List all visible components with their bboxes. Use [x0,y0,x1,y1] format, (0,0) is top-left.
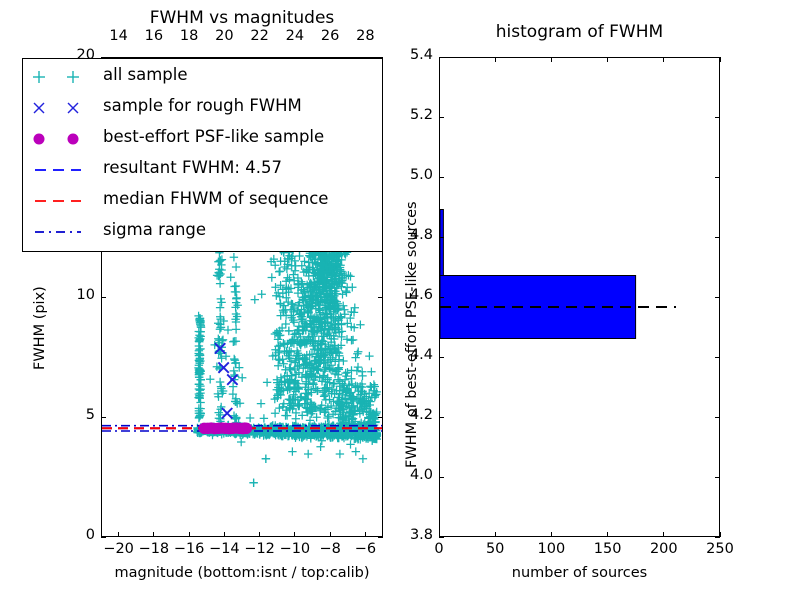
axis-tick [439,177,444,178]
tick-label: 5.2 [389,107,433,123]
axis-tick [439,537,444,538]
figure-canvas: FWHM vs magnitudes 1416182022242628 −20−… [0,0,800,600]
left-panel-title: FWHM vs magnitudes [101,8,383,28]
axis-tick [439,477,444,478]
legend-item-label: all sample [103,65,188,84]
right-xlabel: number of sources [429,565,730,581]
legend-item: resultant FWHM: 4.57 [23,156,381,184]
axis-tick [715,297,720,298]
tick-label: 18 [179,28,199,44]
axis-tick [439,57,440,62]
tick-label: −14 [208,541,240,557]
legend-box: all samplesample for rough FWHMbest-effo… [22,58,383,252]
axis-tick [101,297,106,298]
tick-label: 14 [109,28,129,44]
legend-item: sigma range [23,218,381,246]
tick-label: 0 [53,527,95,543]
legend-marker-cross-icon [23,94,101,122]
axis-tick [153,532,154,537]
legend-item-label: resultant FWHM: 4.57 [103,158,282,177]
axis-tick [378,297,383,298]
legend-marker-dashed-icon [23,156,101,184]
axis-tick [715,357,720,358]
tick-label: 150 [588,541,628,557]
legend-marker-dashed-icon [23,187,101,215]
axis-tick [607,57,608,62]
axis-tick [101,417,106,418]
tick-label: 20 [214,28,234,44]
right-plot-axes [439,57,720,537]
axis-tick [378,537,383,538]
axis-tick [495,532,496,537]
legend-item-label: best-effort PSF-like sample [103,127,324,146]
tick-label: 22 [250,28,270,44]
legend-item: all sample [23,63,381,91]
axis-tick [607,532,608,537]
tick-label: 10 [53,287,95,303]
legend-item-label: sigma range [103,220,206,239]
axis-tick [439,297,444,298]
axis-tick [715,117,720,118]
tick-label: 26 [320,28,340,44]
axis-tick [224,532,225,537]
tick-label: 200 [644,541,684,557]
axis-tick [439,237,444,238]
tick-label: −8 [314,541,346,557]
axis-tick [439,57,444,58]
legend-item: median FHWM of sequence [23,187,381,215]
axis-tick [365,532,366,537]
legend-item-label: median FHWM of sequence [103,189,328,208]
axis-tick [551,57,552,62]
tick-label: −16 [173,541,205,557]
tick-label: 50 [475,541,515,557]
legend-item: sample for rough FWHM [23,94,381,122]
legend-item: best-effort PSF-like sample [23,125,381,153]
axis-tick [663,57,664,62]
axis-tick [330,532,331,537]
right-panel-title: histogram of FWHM [439,22,720,42]
tick-label: −6 [349,541,381,557]
axis-tick [294,532,295,537]
axis-tick [715,417,720,418]
tick-label: 3.8 [389,527,433,543]
histogram-svg [440,58,719,536]
legend-marker-dashdot-icon [23,218,101,246]
axis-tick [439,117,444,118]
axis-tick [715,537,720,538]
axis-tick [715,237,720,238]
axis-tick [715,477,720,478]
axis-tick [715,57,720,58]
axis-tick [118,532,119,537]
left-ylabel: FWHM (pix) [32,286,48,370]
right-ylabel: FWHM of best-effort PSF-like sources [404,201,420,468]
axis-tick [439,357,444,358]
left-xlabel: magnitude (bottom:isnt / top:calib) [91,565,393,581]
tick-label: 100 [531,541,571,557]
tick-label: 4.0 [389,467,433,483]
axis-tick [495,57,496,62]
tick-label: 28 [355,28,375,44]
legend-marker-dot-icon [23,125,101,153]
tick-label: −10 [279,541,311,557]
right-plot-area [440,58,719,536]
axis-tick [378,417,383,418]
axis-tick [663,532,664,537]
tick-label: 5 [53,407,95,423]
tick-label: 16 [144,28,164,44]
legend-item-label: sample for rough FWHM [103,96,302,115]
axis-tick [439,417,444,418]
axis-tick [715,177,720,178]
tick-label: −18 [138,541,170,557]
tick-label: 5.4 [389,47,433,63]
tick-label: −12 [244,541,276,557]
tick-label: 250 [700,541,740,557]
tick-label: 5.0 [389,167,433,183]
axis-tick [101,537,106,538]
tick-label: 0 [419,541,459,557]
tick-label: 24 [285,28,305,44]
axis-tick [259,532,260,537]
axis-tick [189,532,190,537]
axis-tick [551,532,552,537]
legend-marker-plus-icon [23,63,101,91]
axis-tick [720,57,721,62]
tick-label: −20 [103,541,135,557]
